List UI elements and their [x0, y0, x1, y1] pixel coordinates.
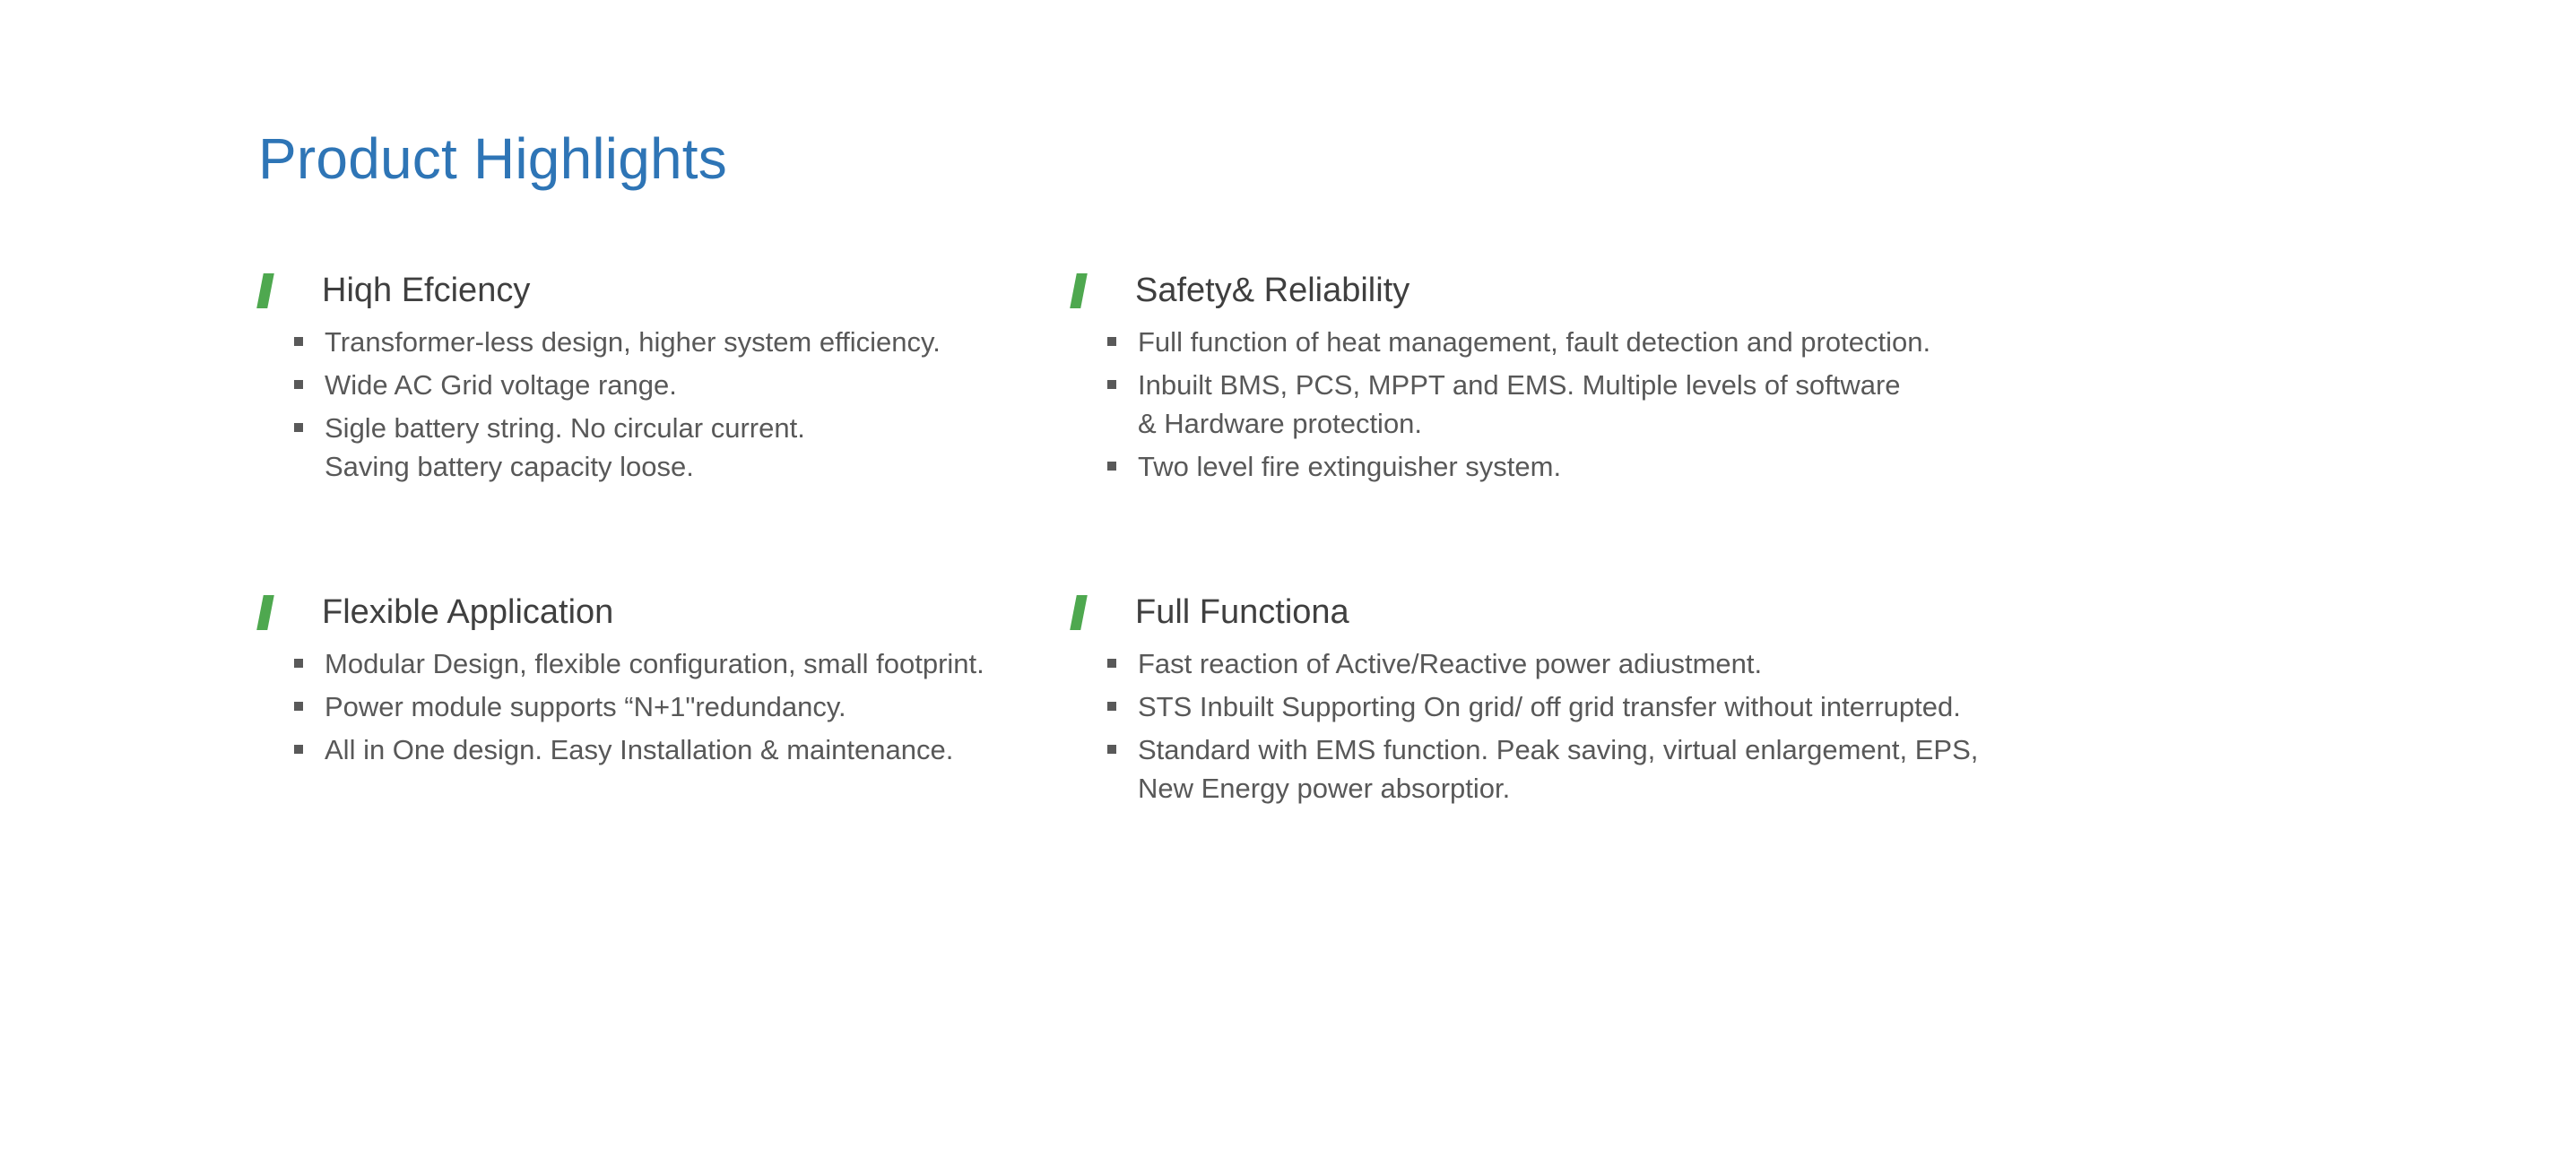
bullet-list: Transformer-less design, higher system e… — [294, 323, 986, 486]
bullet-list: Full function of heat management, fault … — [1107, 323, 2331, 486]
section-header: Flexible Application — [258, 587, 986, 637]
accent-bar-icon — [256, 273, 274, 308]
bullet-text: Full function of heat management, fault … — [1138, 323, 1930, 361]
list-item: Two level fire extinguisher system. — [1107, 447, 2331, 486]
bullet-square-icon — [1107, 659, 1116, 668]
section-title: Flexible Application — [322, 595, 613, 629]
bullet-square-icon — [1107, 337, 1116, 346]
bullet-text: STS Inbuilt Supporting On grid/ off grid… — [1138, 687, 1961, 726]
list-item: Modular Design, flexible configuration, … — [294, 644, 986, 683]
section-header: Full Functiona — [1071, 587, 2331, 637]
bullet-square-icon — [294, 659, 303, 668]
bullet-square-icon — [294, 423, 303, 432]
column-left-bottom: Flexible Application Modular Design, fle… — [0, 587, 986, 812]
section-high-efficiency: Hiqh Efciency Transformer-less design, h… — [258, 265, 986, 486]
list-item: Inbuilt BMS, PCS, MPPT and EMS. Multiple… — [1107, 366, 2331, 443]
list-item: Sigle battery string. No circular curren… — [294, 409, 986, 486]
list-item: Power module supports “N+1"redundancy. — [294, 687, 986, 726]
bullet-square-icon — [1107, 380, 1116, 389]
list-item: Standard with EMS function. Peak saving,… — [1107, 730, 2331, 808]
accent-bar-icon — [256, 595, 274, 630]
column-right-bottom: Full Functiona Fast reaction of Active/R… — [986, 587, 2331, 812]
section-title: Hiqh Efciency — [322, 273, 530, 307]
section-safety-reliability: Safety& Reliability Full function of hea… — [1071, 265, 2331, 486]
section-flexible-application: Flexible Application Modular Design, fle… — [258, 587, 986, 769]
section-header: Hiqh Efciency — [258, 265, 986, 315]
list-item: Full function of heat management, fault … — [1107, 323, 2331, 361]
bullet-square-icon — [294, 745, 303, 754]
column-right-top: Safety& Reliability Full function of hea… — [986, 265, 2331, 490]
bullet-square-icon — [294, 337, 303, 346]
list-item: Transformer-less design, higher system e… — [294, 323, 986, 361]
page-title: Product Highlights — [258, 125, 727, 192]
column-left-top: Hiqh Efciency Transformer-less design, h… — [0, 265, 986, 490]
bullet-square-icon — [294, 380, 303, 389]
section-title: Full Functiona — [1135, 595, 1349, 629]
bullet-text: All in One design. Easy Installation & m… — [325, 730, 953, 769]
section-title: Safety& Reliability — [1135, 273, 1409, 307]
list-item: Wide AC Grid voltage range. — [294, 366, 986, 404]
bullet-text: Modular Design, flexible configuration, … — [325, 644, 984, 683]
bullet-text: Wide AC Grid voltage range. — [325, 366, 677, 404]
highlights-row-1: Hiqh Efciency Transformer-less design, h… — [0, 265, 2576, 490]
bullet-text: Standard with EMS function. Peak saving,… — [1138, 730, 1978, 808]
bullet-text: Transformer-less design, higher system e… — [325, 323, 941, 361]
list-item: Fast reaction of Active/Reactive power a… — [1107, 644, 2331, 683]
bullet-text: Fast reaction of Active/Reactive power a… — [1138, 644, 1762, 683]
bullet-square-icon — [1107, 702, 1116, 711]
accent-bar-icon — [1070, 273, 1088, 308]
slide-canvas: Product Highlights Hiqh Efciency Transfo… — [0, 0, 2576, 1149]
section-full-functiona: Full Functiona Fast reaction of Active/R… — [1071, 587, 2331, 808]
list-item: STS Inbuilt Supporting On grid/ off grid… — [1107, 687, 2331, 726]
bullet-text: Inbuilt BMS, PCS, MPPT and EMS. Multiple… — [1138, 366, 1901, 443]
bullet-text: Two level fire extinguisher system. — [1138, 447, 1561, 486]
bullet-text: Power module supports “N+1"redundancy. — [325, 687, 846, 726]
section-header: Safety& Reliability — [1071, 265, 2331, 315]
bullet-square-icon — [294, 702, 303, 711]
accent-bar-icon — [1070, 595, 1088, 630]
bullet-list: Fast reaction of Active/Reactive power a… — [1107, 644, 2331, 808]
list-item: All in One design. Easy Installation & m… — [294, 730, 986, 769]
bullet-list: Modular Design, flexible configuration, … — [294, 644, 986, 769]
bullet-text: Sigle battery string. No circular curren… — [325, 409, 805, 486]
highlights-row-2: Flexible Application Modular Design, fle… — [0, 587, 2576, 812]
highlights-grid: Hiqh Efciency Transformer-less design, h… — [0, 265, 2576, 812]
bullet-square-icon — [1107, 462, 1116, 471]
bullet-square-icon — [1107, 745, 1116, 754]
